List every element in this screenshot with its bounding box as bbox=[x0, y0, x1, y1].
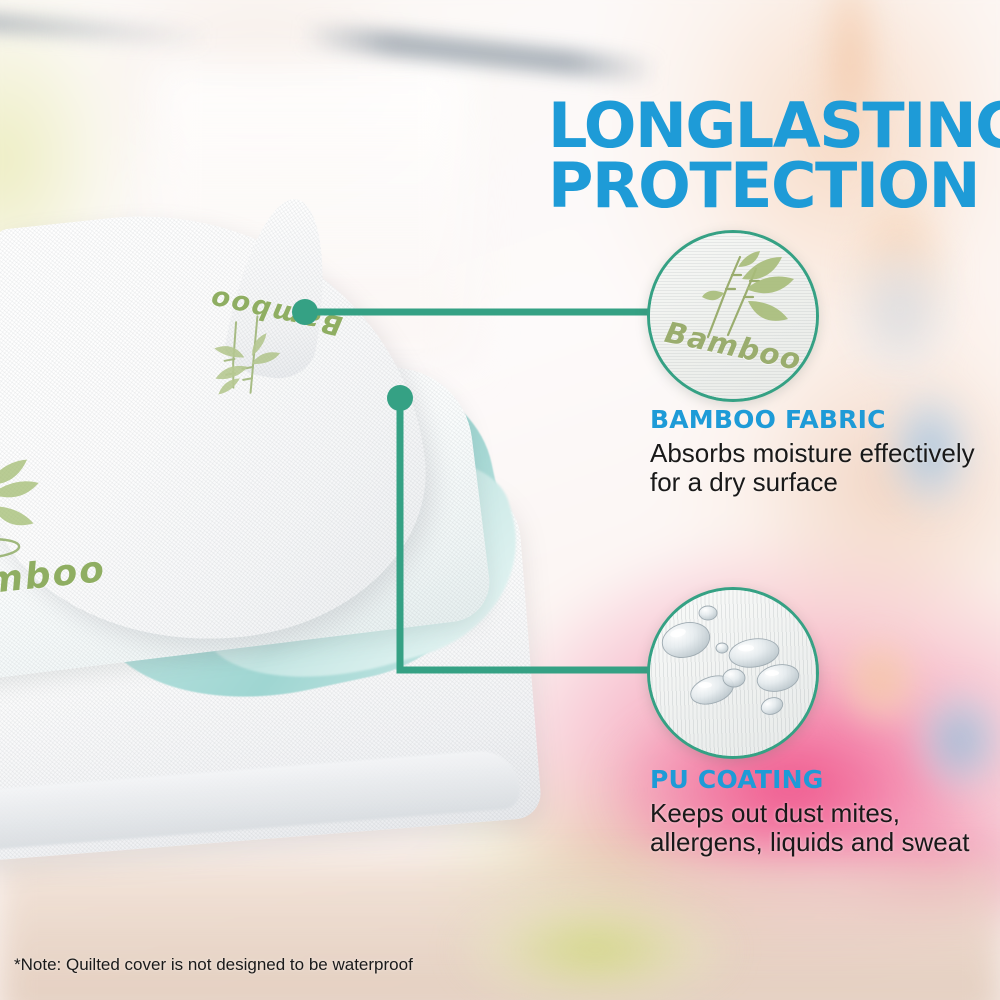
callout-circle-bamboo: Bamboo bbox=[647, 230, 819, 402]
feature-heading-pu: PU COATING bbox=[650, 765, 990, 794]
feature-heading-bamboo: BAMBOO FABRIC bbox=[650, 405, 990, 434]
headline-title: LONGLASTING PROTECTION bbox=[548, 96, 978, 215]
callout-circle-pu-coating bbox=[647, 587, 819, 759]
feature-block-pu: PU COATING Keeps out dust mites, allerge… bbox=[650, 765, 990, 857]
water-droplets-icon bbox=[650, 590, 816, 756]
footnote-disclaimer: *Note: Quilted cover is not designed to … bbox=[14, 955, 413, 975]
product-mattress-protector: Bamboo bbox=[0, 210, 580, 950]
feature-body-bamboo: Absorbs moisture effectively for a dry s… bbox=[650, 439, 990, 497]
background-child-upper bbox=[810, 230, 1000, 560]
brand-text-bamboo-front: Bamboo bbox=[0, 549, 108, 608]
headline-line-2: PROTECTION bbox=[548, 156, 978, 216]
feature-body-pu: Keeps out dust mites, allergens, liquids… bbox=[650, 799, 990, 857]
feature-block-bamboo: BAMBOO FABRIC Absorbs moisture effective… bbox=[650, 405, 990, 497]
bamboo-plant-icon bbox=[191, 302, 301, 408]
infographic-canvas: Bamboo bbox=[0, 0, 1000, 1000]
